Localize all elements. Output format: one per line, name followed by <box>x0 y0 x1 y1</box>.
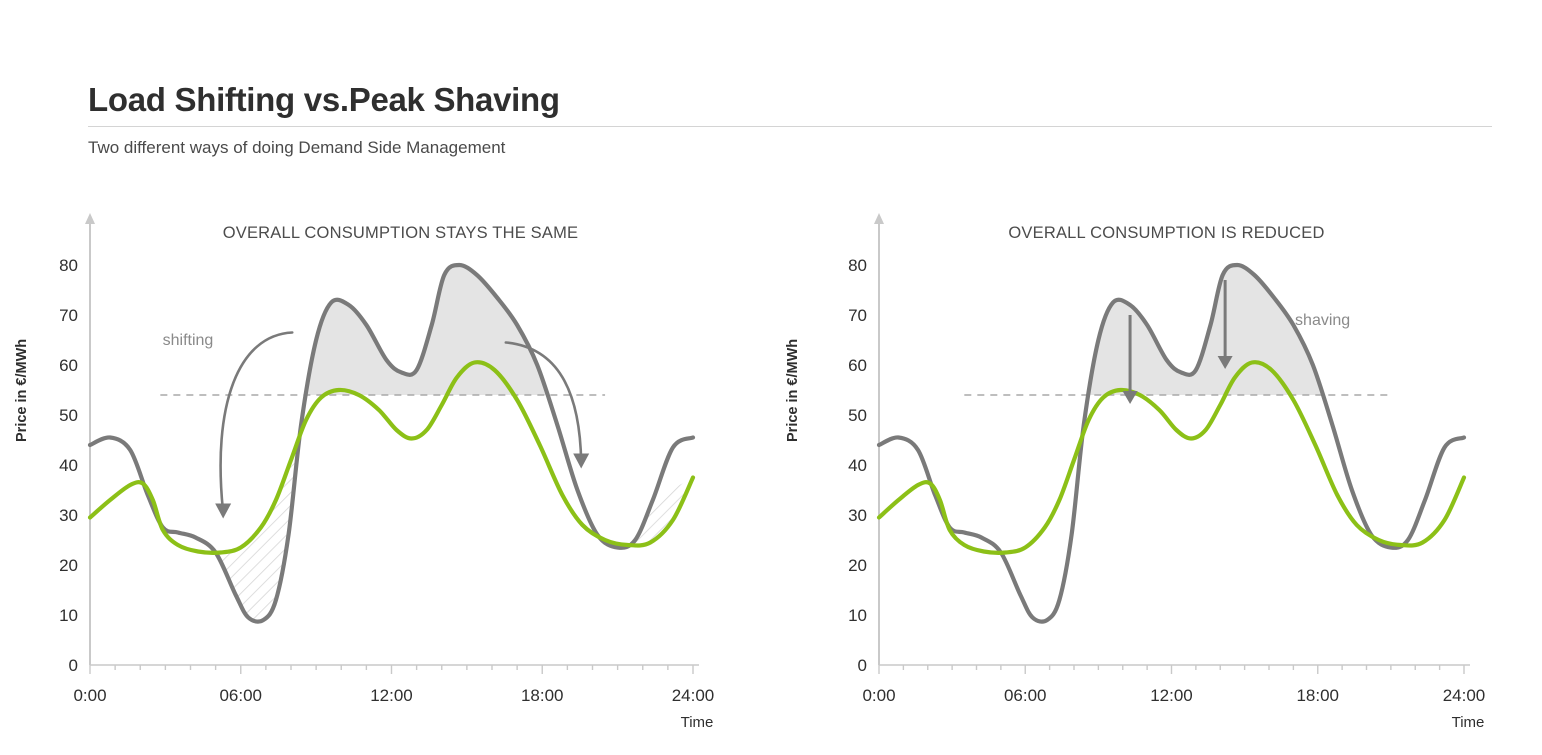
x-tick-label: 06:00 <box>1004 686 1047 705</box>
chart-svg-load-shifting: 010203040506070800:0006:0012:0018:0024:0… <box>0 210 771 755</box>
chart-panel-peak-shaving: OVERALL CONSUMPTION IS REDUCED Price in … <box>771 210 1542 755</box>
y-axis-ticks: 01020304050607080 <box>848 256 867 675</box>
page-subtitle: Two different ways of doing Demand Side … <box>88 137 1492 159</box>
x-tick-label: 0:00 <box>73 686 106 705</box>
x-axis-label: Time <box>681 714 714 731</box>
x-axis-label: Time <box>1452 714 1485 731</box>
x-tick-label: 18:00 <box>521 686 564 705</box>
y-tick-label: 10 <box>59 606 78 625</box>
annotation-label: shaving <box>1295 312 1350 329</box>
peak-area-segment <box>306 265 548 395</box>
x-tick-label: 24:00 <box>1443 686 1486 705</box>
annotation-label: shifting <box>163 332 214 349</box>
title-divider <box>88 126 1492 127</box>
y-tick-label: 80 <box>59 256 78 275</box>
x-axis-ticks: 0:0006:0012:0018:0024:00Time <box>73 686 714 731</box>
original-load-curve <box>879 265 1464 622</box>
y-axis-arrow-icon <box>85 213 95 224</box>
x-tick-label: 06:00 <box>219 686 262 705</box>
x-tick-label: 24:00 <box>672 686 715 705</box>
y-tick-label: 20 <box>848 556 867 575</box>
x-axis-ticks: 0:0006:0012:0018:0024:00Time <box>862 686 1485 731</box>
x-tick-label: 12:00 <box>1150 686 1193 705</box>
y-tick-label: 60 <box>848 356 867 375</box>
x-tick-label: 12:00 <box>370 686 413 705</box>
axes <box>874 213 1470 674</box>
page-title: Load Shifting vs.Peak Shaving <box>88 78 1492 122</box>
y-tick-label: 10 <box>848 606 867 625</box>
y-axis-ticks: 01020304050607080 <box>59 256 78 675</box>
shifting-arrow-head-icon <box>215 504 231 519</box>
y-tick-label: 40 <box>59 456 78 475</box>
axes <box>85 213 699 674</box>
y-tick-label: 0 <box>69 656 78 675</box>
y-tick-label: 0 <box>858 656 867 675</box>
y-tick-label: 50 <box>59 406 78 425</box>
chart-panel-load-shifting: OVERALL CONSUMPTION STAYS THE SAME Price… <box>0 210 771 755</box>
peak-reduction-area <box>306 265 548 395</box>
x-tick-label: 18:00 <box>1296 686 1339 705</box>
peak-area-segment <box>1088 265 1322 395</box>
hatch-segment <box>611 478 693 548</box>
y-tick-label: 50 <box>848 406 867 425</box>
y-tick-label: 70 <box>848 306 867 325</box>
y-axis-arrow-icon <box>874 213 884 224</box>
x-tick-label: 0:00 <box>862 686 895 705</box>
y-tick-label: 80 <box>848 256 867 275</box>
y-tick-label: 30 <box>59 506 78 525</box>
chart-svg-peak-shaving: 010203040506070800:0006:0012:0018:0024:0… <box>771 210 1542 755</box>
y-tick-label: 20 <box>59 556 78 575</box>
y-tick-label: 60 <box>59 356 78 375</box>
shaving-arrow-head-icon <box>1123 391 1138 404</box>
peak-reduction-area <box>1088 265 1322 395</box>
shifting-arrow-head-icon-2 <box>573 454 589 469</box>
y-tick-label: 40 <box>848 456 867 475</box>
original-load-curve <box>90 265 693 622</box>
page-header: Load Shifting vs.Peak Shaving Two differ… <box>88 78 1492 159</box>
valley-shift-area <box>140 419 693 622</box>
y-tick-label: 30 <box>848 506 867 525</box>
y-tick-label: 70 <box>59 306 78 325</box>
